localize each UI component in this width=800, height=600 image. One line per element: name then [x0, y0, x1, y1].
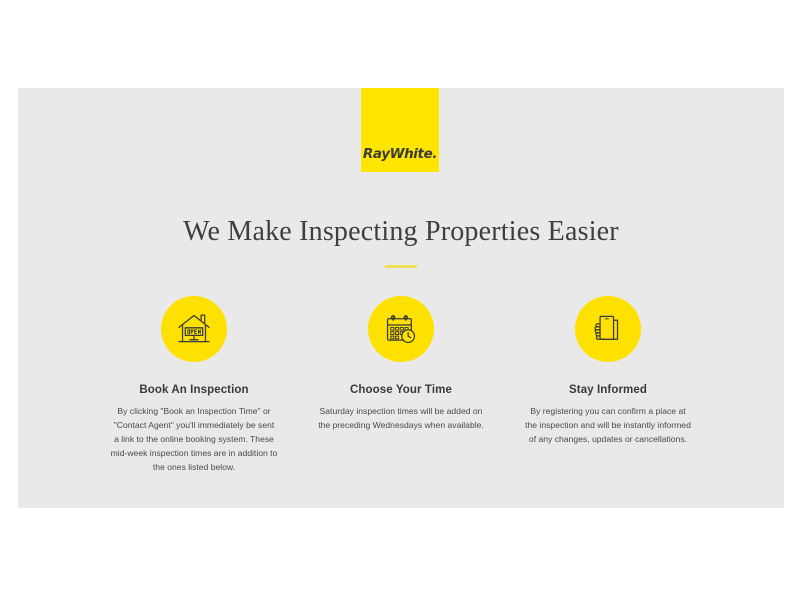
- feature-column-choose-your-time: Choose Your Time Saturday inspection tim…: [314, 296, 489, 433]
- feature-body: By registering you can confirm a place a…: [521, 405, 696, 447]
- title-divider: [385, 265, 417, 268]
- feature-title: Stay Informed: [521, 384, 696, 396]
- open-house-icon: [175, 310, 213, 348]
- feature-title: Book An Inspection: [107, 384, 282, 396]
- icon-circle: [368, 296, 434, 362]
- content-panel: RayWhite. We Make Inspecting Properties …: [18, 88, 784, 508]
- raywhite-logo[interactable]: RayWhite.: [361, 88, 439, 172]
- logo-dot: .: [432, 148, 437, 162]
- page-title: We Make Inspecting Properties Easier: [18, 216, 784, 248]
- feature-title: Choose Your Time: [314, 384, 489, 396]
- page-root: RayWhite. We Make Inspecting Properties …: [0, 0, 800, 600]
- feature-body: By clicking "Book an Inspection Time" or…: [107, 405, 282, 475]
- icon-circle: [575, 296, 641, 362]
- feature-column-stay-informed: Stay Informed By registering you can con…: [521, 296, 696, 447]
- icon-circle: [161, 296, 227, 362]
- feature-columns: Book An Inspection By clicking "Book an …: [18, 296, 784, 475]
- calendar-clock-icon: [382, 310, 420, 348]
- logo-wordmark: RayWhite: [363, 148, 432, 162]
- feature-column-book-an-inspection: Book An Inspection By clicking "Book an …: [107, 296, 282, 475]
- hand-holding-phone-icon: [589, 310, 627, 348]
- feature-body: Saturday inspection times will be added …: [314, 405, 489, 433]
